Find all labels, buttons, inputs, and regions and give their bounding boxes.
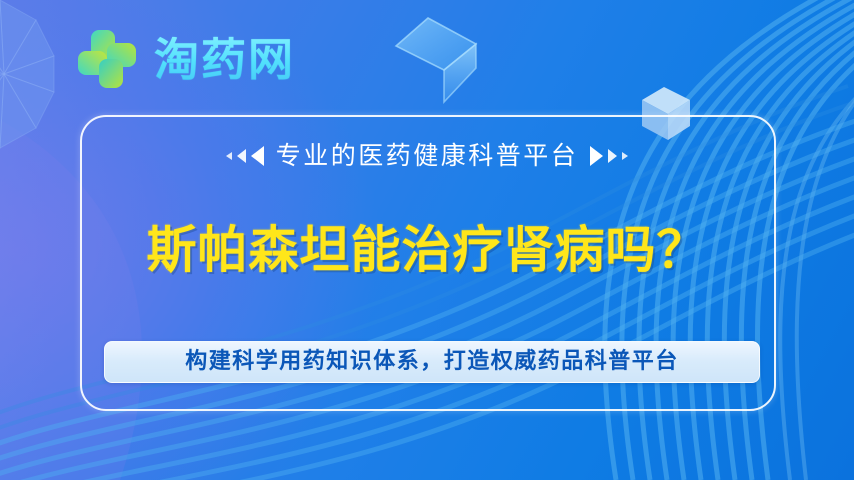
isometric-cube-outline-icon [384, 12, 488, 116]
page-title: 斯帕森坦能治疗肾病吗？ [0, 222, 854, 280]
brand-name: 淘药网 [154, 37, 295, 82]
slogan-text: 构建科学用药知识体系，打造权威药品科普平台 [185, 351, 679, 373]
triangle-right-arrows-icon [590, 146, 628, 166]
tagline-text: 专业的医药健康科普平台 [276, 143, 579, 168]
promo-banner-canvas: 淘药网 专业的医药健康科普平台 斯帕森坦能治疗肾病吗？ 构建科学用药知识体系，打… [0, 0, 854, 480]
triangle-fan-pattern-icon [0, 0, 64, 154]
medical-cross-icon [74, 26, 140, 92]
tagline-row: 专业的医药健康科普平台 [0, 143, 854, 168]
brand-logo: 淘药网 [74, 26, 295, 92]
slogan-banner: 构建科学用药知识体系，打造权威药品科普平台 [104, 341, 760, 383]
triangle-left-arrows-icon [226, 146, 264, 166]
